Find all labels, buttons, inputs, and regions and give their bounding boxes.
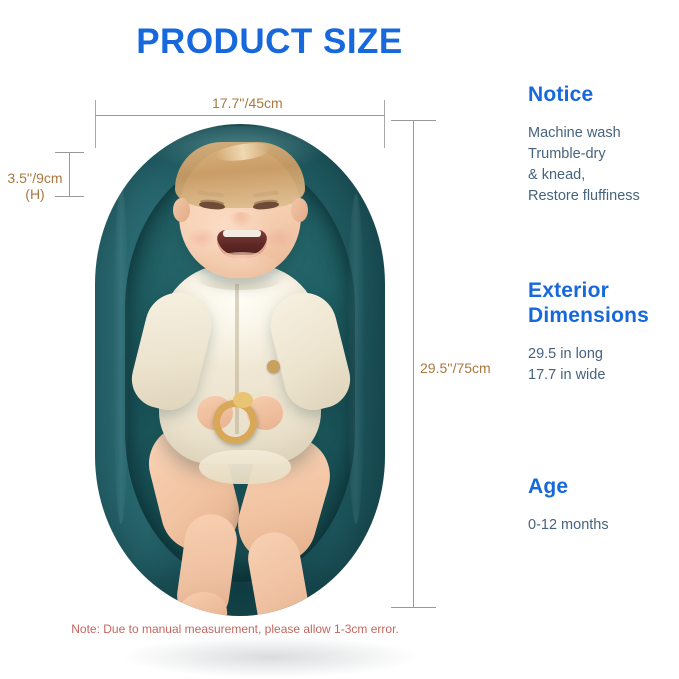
measurement-note: Note: Due to manual measurement, please … <box>0 622 470 636</box>
height-dimension-label: 3.5''/9cm (H) <box>4 170 66 202</box>
baby-figure <box>95 124 385 616</box>
height-guide-line <box>69 152 70 197</box>
width-guide-tick-right <box>384 100 385 148</box>
section-age-heading: Age <box>528 474 679 499</box>
height-guide-cap-top <box>55 152 84 153</box>
width-dimension-label: 17.7''/45cm <box>212 95 283 111</box>
section-exterior-dimensions-heading: Exterior Dimensions <box>528 278 679 328</box>
length-guide-cap-bottom <box>391 607 436 608</box>
section-exterior-dimensions-body: 29.5 in long 17.7 in wide <box>528 344 679 386</box>
section-age: Age 0-12 months <box>528 474 679 536</box>
section-notice-body: Machine wash Trumble-dry & knead, Restor… <box>528 123 679 207</box>
product-photo <box>95 124 385 616</box>
baby-left-ear <box>173 198 190 222</box>
baby-right-cheek <box>265 228 295 248</box>
onesie-hem <box>199 450 291 484</box>
baby-teeth <box>223 230 261 237</box>
onesie-button <box>267 360 280 373</box>
height-dimension-value: 3.5''/9cm <box>7 170 62 186</box>
height-dimension-axis: (H) <box>25 186 44 202</box>
baby-chin <box>205 252 279 282</box>
width-guide-line <box>95 115 385 116</box>
pacifier-nub <box>233 392 253 408</box>
width-guide-tick-left <box>95 100 96 148</box>
page-title: PRODUCT SIZE <box>0 22 679 62</box>
baby-lounger-graphic <box>95 124 385 616</box>
baby-nose <box>229 212 253 228</box>
length-dimension-label: 29.5''/75cm <box>420 360 491 376</box>
length-guide-line <box>413 120 414 608</box>
baby-right-ear <box>291 198 308 222</box>
baby-left-cheek <box>187 228 217 248</box>
product-size-infographic: PRODUCT SIZE <box>0 0 679 679</box>
section-notice: Notice Machine wash Trumble-dry & knead,… <box>528 82 679 207</box>
section-notice-heading: Notice <box>528 82 679 107</box>
section-age-body: 0-12 months <box>528 515 679 536</box>
length-guide-cap-top <box>391 120 436 121</box>
section-exterior-dimensions: Exterior Dimensions 29.5 in long 17.7 in… <box>528 278 679 386</box>
floor-shadow <box>120 636 420 678</box>
